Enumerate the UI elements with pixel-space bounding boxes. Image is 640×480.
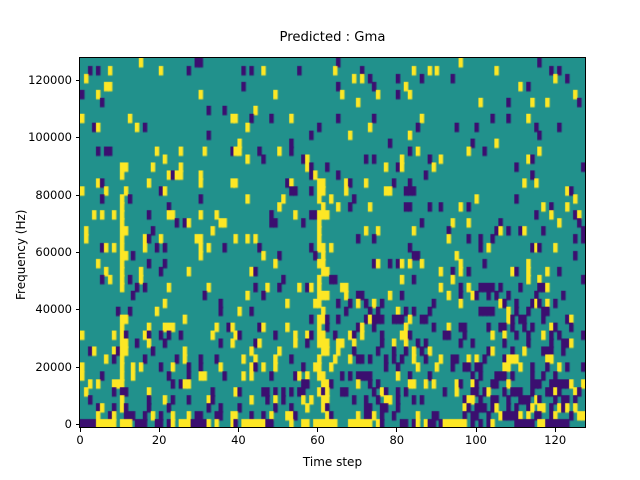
ytick-label: 120000 [0,73,72,87]
heatmap-axes [79,57,586,428]
xtick-mark [317,428,318,432]
ytick-mark [76,137,80,138]
ytick-label: 80000 [0,188,72,202]
ytick-mark [76,252,80,253]
heatmap-image [80,58,585,427]
xtick-mark [159,428,160,432]
xtick-label: 40 [208,433,268,447]
y-axis-label: Frequency (Hz) [14,210,28,301]
xtick-mark [555,428,556,432]
ytick-label: 0 [0,417,72,431]
xtick-label: 20 [129,433,189,447]
ytick-mark [76,367,80,368]
ytick-label: 60000 [0,245,72,259]
x-axis-label: Time step [79,455,586,470]
page-title: Predicted : Gma [79,30,586,46]
xtick-mark [476,428,477,432]
ytick-mark [76,80,80,81]
ytick-mark [76,309,80,310]
xtick-mark [396,428,397,432]
matplotlib-figure: Predicted : Gma 0 20 40 60 80 100 120 0 … [0,0,640,480]
xtick-label: 100 [446,433,506,447]
xtick-label: 120 [525,433,585,447]
xtick-label: 0 [50,433,110,447]
xtick-label: 60 [288,433,348,447]
ytick-label: 100000 [0,130,72,144]
xtick-mark [238,428,239,432]
ytick-label: 40000 [0,302,72,316]
ytick-label: 20000 [0,360,72,374]
ytick-mark [76,195,80,196]
xtick-mark [80,428,81,432]
ytick-mark [76,424,80,425]
xtick-label: 80 [367,433,427,447]
